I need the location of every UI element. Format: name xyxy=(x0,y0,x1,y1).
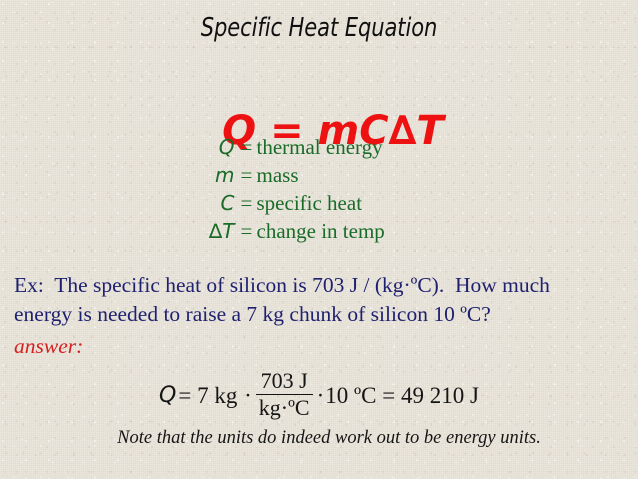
problem-line-2: energy is needed to raise a 7 kg chunk o… xyxy=(14,300,630,329)
calculation-temperature-term: 10 ºC xyxy=(325,383,376,409)
calculation-result-equals: = xyxy=(377,383,401,409)
fraction-numerator: 703 J xyxy=(258,369,311,393)
definition-row-c: C = specific heat xyxy=(187,190,452,218)
definition-meaning-delta-t: change in temp xyxy=(257,218,385,246)
definition-equals-m: = xyxy=(241,162,257,190)
calculation-variable: Q xyxy=(159,383,176,408)
definition-meaning-m: mass xyxy=(257,162,299,190)
definition-symbol-m: m xyxy=(187,162,241,189)
variable-definitions-list: Q = thermal energy m = mass C = specific… xyxy=(0,134,638,246)
specific-heat-fraction: 703 J kg·ºC xyxy=(256,369,313,420)
calculation-multiply-dot-1: · xyxy=(243,383,253,409)
calculation-result: 49 210 J xyxy=(401,383,479,409)
fraction-denominator: kg·ºC xyxy=(256,396,313,420)
definition-symbol-c: C xyxy=(187,190,241,217)
calculation-mass-term: 7 kg xyxy=(197,383,243,409)
calculation-multiply-dot-2: · xyxy=(316,383,326,409)
example-problem: Ex: The specific heat of silicon is 703 … xyxy=(14,271,630,329)
definition-symbol-delta-t: ∆T xyxy=(187,218,241,245)
definition-meaning-q: thermal energy xyxy=(257,134,383,162)
definition-equals-q: = xyxy=(241,134,257,162)
definition-row-m: m = mass xyxy=(187,162,452,190)
problem-line-1: Ex: The specific heat of silicon is 703 … xyxy=(14,271,630,300)
page-title: Specific Heat Equation xyxy=(32,13,606,43)
definition-row-delta-t: ∆T = change in temp xyxy=(187,218,452,246)
definition-equals-c: = xyxy=(241,190,257,218)
answer-label: answer: xyxy=(14,334,83,359)
definition-symbol-q: Q xyxy=(187,134,241,161)
definition-row-q: Q = thermal energy xyxy=(187,134,452,162)
definition-meaning-c: specific heat xyxy=(257,190,363,218)
definition-equals-delta-t: = xyxy=(241,218,257,246)
footer-note: Note that the units do indeed work out t… xyxy=(0,428,638,449)
worked-calculation: Q = 7 kg · 703 J kg·ºC · 10 ºC = 49 210 … xyxy=(0,370,638,421)
calculation-equals: = xyxy=(178,383,197,409)
